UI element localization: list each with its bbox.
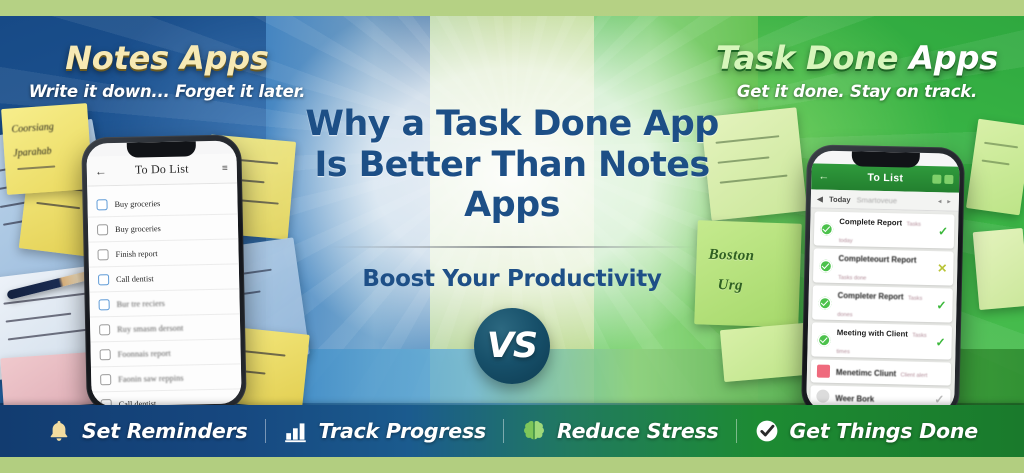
list-item-label: Bur tre reciers [117,298,166,308]
right-panel-title-primary: Task Done [716,39,898,77]
checkbox[interactable] [97,249,108,260]
list-view-icon[interactable] [932,175,941,184]
sticky-note [966,119,1024,216]
task-subtitle: Client alert [900,373,927,380]
check-icon[interactable]: ✓ [938,224,948,238]
check-icon[interactable]: ✓ [936,298,946,312]
feature-bar: Set Reminders Track Progress [0,405,1024,457]
vs-label: VS [487,326,537,366]
left-phone-screen[interactable]: ← To Do List ≡ Buy groceries Buy groceri… [86,140,241,406]
check-icon[interactable]: ✓ [935,335,945,349]
right-panel-title-secondary: Apps [909,39,998,77]
headline-line-1: Why a Task Done App [297,104,727,145]
list-item[interactable]: Buy groceries [87,189,237,217]
pager-arrows[interactable]: ◂ ▸ [938,197,953,205]
task-pending-icon[interactable] [817,364,830,377]
list-item[interactable]: Bur tre reciers [89,289,239,317]
list-item[interactable]: Faonin saw reppins [91,364,241,392]
right-panel-heading: Task Done Apps Get it done. Stay on trac… [692,42,1022,101]
vs-badge: VS [474,308,550,384]
task-idle-icon[interactable] [816,390,829,403]
banner-artwork: Coorsiang Jparahab [0,16,1024,457]
menu-icon[interactable]: ≡ [222,163,228,174]
headline-line-2: Is Better Than Notes Apps [297,145,727,226]
checkbox[interactable] [100,374,111,385]
chevron-left-icon[interactable]: ◀ [817,194,823,203]
close-icon[interactable]: ✕ [937,261,947,275]
task-title: Complete Report [839,217,902,227]
todo-list[interactable]: Buy groceries Buy groceries Finish repor… [87,183,242,406]
left-panel-subtitle: Write it down... Forget it later. [2,82,332,101]
right-panel-title: Task Done Apps [692,42,1022,74]
checkbox[interactable] [98,274,109,285]
task-list[interactable]: Complete Report Tasks today ✓ Completeou… [806,208,959,413]
list-item[interactable]: Foonnais report [90,339,240,367]
feature-label: Track Progress [319,419,486,443]
filter-icon[interactable] [944,175,953,184]
right-phone-header: ← To List [811,163,960,192]
page-title: Why a Task Done App Is Better Than Notes… [297,104,727,226]
task-complete-icon[interactable] [820,222,833,235]
check-circle-icon [754,418,780,444]
left-phone-header: ← To Do List ≡ [87,153,238,186]
list-item-label: Buy groceries [114,199,160,209]
feature-label: Get Things Done [790,419,978,443]
task-title: Completer Report [838,291,904,301]
left-panel-heading: Notes Apps Write it down... Forget it la… [2,42,332,101]
phone-notch [127,141,196,157]
list-item-label: Foonnais report [118,348,171,358]
list-item[interactable]: Buy groceries [88,214,238,242]
checkbox[interactable] [99,299,110,310]
left-panel-title: Notes Apps [2,42,332,74]
left-phone-title: To Do List [135,161,189,177]
header-icons[interactable] [932,175,953,184]
task-row[interactable]: Complete Report Tasks today ✓ [814,211,955,248]
list-item-label: Call dentist [116,274,154,284]
feature-reduce-stress[interactable]: Reduce Stress [504,418,736,444]
task-subtitle: Tasks done [838,275,866,282]
phone-notch [852,151,920,168]
task-title: Meeting with Client [837,328,908,339]
left-phone-device: ← To Do List ≡ Buy groceries Buy groceri… [81,134,247,412]
sticky-note [973,228,1024,310]
bar-chart-icon [283,418,309,444]
right-phone-title: To List [867,172,903,185]
task-row[interactable]: Menetimc Cliunt Client alert [811,359,951,385]
sticky-note-text: Coorsiang [11,121,54,135]
list-item[interactable]: Call dentist [89,264,239,292]
list-item[interactable]: Finish report [88,239,238,267]
list-item-label: Faonin saw reppins [118,373,184,383]
feature-label: Set Reminders [82,419,248,443]
right-phone-screen[interactable]: ← To List ◀ Today Smartoveue ◂ ▸ [806,150,960,413]
list-item[interactable]: Call dentist [91,389,241,406]
task-complete-icon[interactable] [819,259,832,272]
brain-icon [521,418,547,444]
task-complete-icon[interactable] [818,333,831,346]
back-arrow-icon[interactable]: ← [95,164,107,178]
subheadline: Boost Your Productivity [297,266,727,292]
list-item-label: Finish report [115,249,157,259]
feature-get-things-done[interactable]: Get Things Done [737,418,995,444]
task-row[interactable]: Completer Report Tasks dones ✓ [812,285,953,322]
right-panel-subtitle: Get it done. Stay on track. [692,82,1022,101]
tab-secondary[interactable]: Smartoveue [856,195,897,205]
list-item-label: Ruy smasm dersont [117,323,183,333]
sticky-note-top: Coorsiang Jparahab [1,103,93,195]
tab-today[interactable]: Today [829,194,851,203]
promo-banner: Coorsiang Jparahab [0,0,1024,473]
task-title: Weer Bork [835,394,874,404]
bell-icon [46,418,72,444]
checkbox[interactable] [96,199,107,210]
checkbox[interactable] [99,324,110,335]
feature-label: Reduce Stress [557,419,719,443]
task-title: Completeourt Report [838,254,916,265]
task-row[interactable]: Meeting with Client Tasks times ✓ [811,322,952,359]
feature-track-progress[interactable]: Track Progress [266,418,503,444]
center-content: Why a Task Done App Is Better Than Notes… [297,104,727,384]
right-phone-device: ← To List ◀ Today Smartoveue ◂ ▸ [801,144,965,420]
divider [329,246,695,248]
task-complete-icon[interactable] [818,296,831,309]
list-item[interactable]: Ruy smasm dersont [90,314,240,342]
task-row[interactable]: Completeourt Report Tasks done ✕ [813,248,954,285]
checkbox[interactable] [97,224,108,235]
feature-set-reminders[interactable]: Set Reminders [29,418,265,444]
checkbox[interactable] [100,349,111,360]
sticky-note-text: Jparahab [13,146,52,160]
back-arrow-icon[interactable]: ← [818,171,829,183]
list-item-label: Buy groceries [115,224,161,234]
task-title: Menetimc Cliunt [836,368,896,378]
